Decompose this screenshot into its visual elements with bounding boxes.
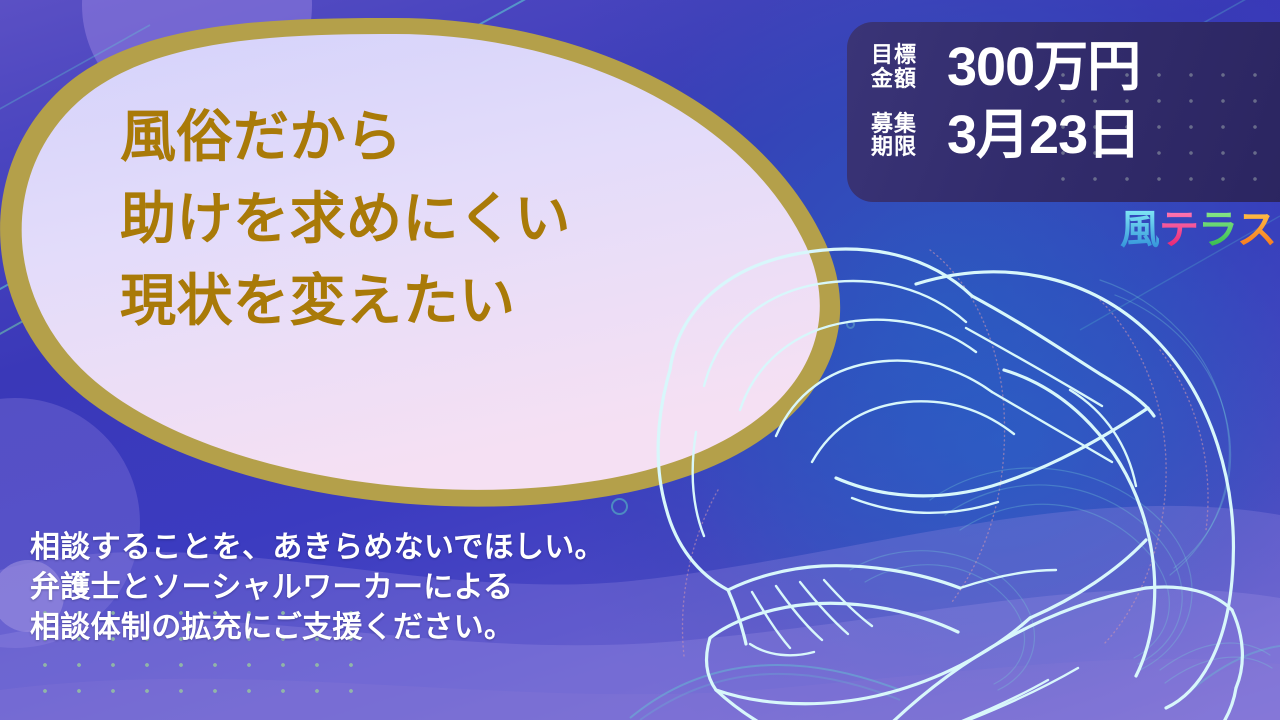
- decor-swirl-texture: [850, 280, 1272, 690]
- brand-logo-char-3: ラ: [1198, 210, 1237, 250]
- info-label-deadline: 募集 期限: [871, 112, 933, 160]
- brand-logo-char-2: テ: [1159, 210, 1198, 250]
- info-label-goal-amount: 目標 金額: [871, 43, 933, 91]
- seated-woman-illustration: [600, 240, 1280, 720]
- info-row-deadline: 募集 期限 3月23日: [871, 106, 1280, 164]
- campaign-info-rows: 目標 金額 300万円 募集 期限 3月23日: [847, 22, 1280, 165]
- brand-logo-text: 風 テ ラ ス: [1120, 210, 1276, 250]
- brand-logo[interactable]: 風 テ ラ ス: [1114, 204, 1276, 256]
- banner-root: 風俗だから 助けを求めにくい 現状を変えたい: [0, 0, 1280, 720]
- brand-logo-char-1: 風: [1120, 210, 1159, 250]
- subcopy-text: 相談することを、あきらめないでほしい。 弁護士とソーシャルワーカーによる 相談体…: [30, 528, 605, 649]
- info-value-deadline: 3月23日: [947, 106, 1140, 164]
- campaign-info-card: 目標 金額 300万円 募集 期限 3月23日: [847, 22, 1280, 202]
- info-row-goal-amount: 目標 金額 300万円: [871, 38, 1280, 96]
- brand-logo-char-4: ス: [1237, 210, 1276, 250]
- info-value-goal-amount: 300万円: [947, 38, 1140, 96]
- decor-dust-speckles: [682, 250, 1208, 656]
